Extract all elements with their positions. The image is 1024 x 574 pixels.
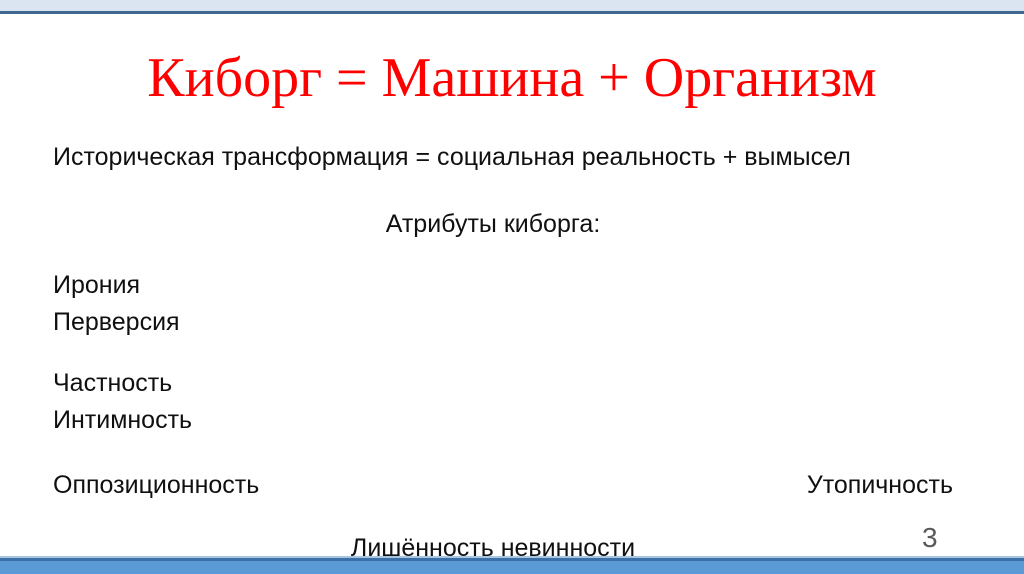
list-item: Частность [53,366,953,401]
top-accent-rule [0,11,1024,14]
list-item-left: Оппозиционность [53,468,259,503]
page-number: 3 [922,521,938,555]
bottom-accent-band [0,561,1024,574]
list-item: Ирония [53,268,953,303]
lead-paragraph: Историческая трансформация = социальная … [53,140,933,175]
presentation-slide: Киборг = Машина + Организм Историческая … [0,0,1024,574]
list-item: Интимность [53,403,953,438]
slide-title: Киборг = Машина + Организм [0,46,1024,110]
attributes-heading: Атрибуты киборга: [53,207,933,242]
top-accent-band [0,0,1024,11]
attributes-opposed-row: Оппозиционность Утопичность [53,468,953,503]
slide-body: Историческая трансформация = социальная … [53,140,953,566]
attributes-group-two: Частность Интимность [53,366,953,438]
list-item-right: Утопичность [807,468,953,503]
list-item: Перверсия [53,305,953,340]
attributes-group-one: Ирония Перверсия [53,268,953,340]
